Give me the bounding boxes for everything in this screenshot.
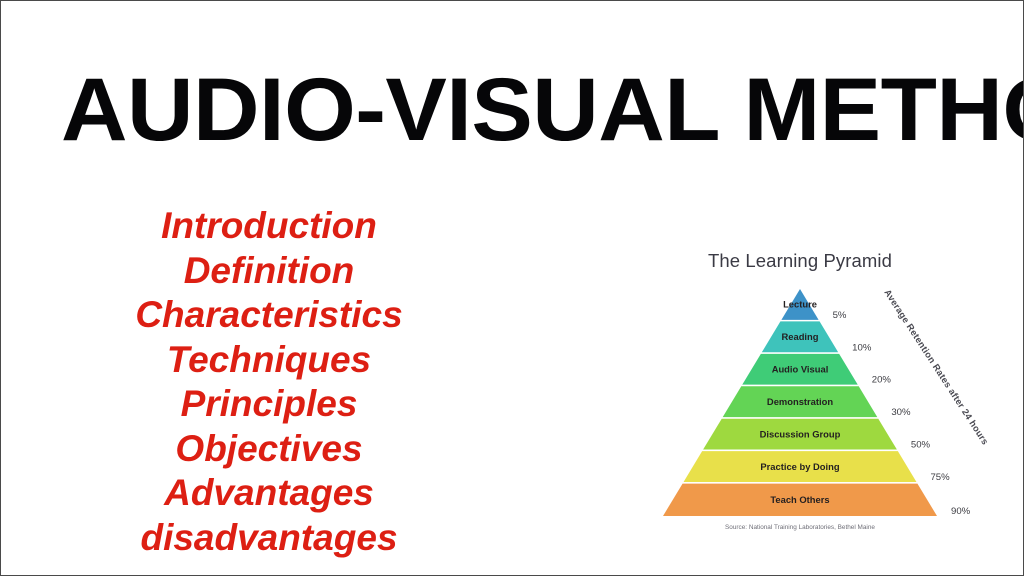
list-item: disadvantages	[109, 516, 429, 561]
retention-axis-label: Average Retention Rates after 24 hours	[882, 288, 990, 447]
pyramid-percent-label: 50%	[911, 440, 931, 451]
slide-canvas: AUDIO-VISUAL METHOD Introduction Definit…	[0, 0, 1024, 576]
pyramid-tier-label: Teach Others	[770, 494, 829, 505]
pyramid-percent-label: 90%	[951, 506, 971, 517]
list-item: Principles	[109, 382, 429, 427]
list-item: Objectives	[109, 427, 429, 472]
pyramid-tier-label: Demonstration	[767, 396, 833, 407]
pyramid-tier-label: Discussion Group	[760, 428, 841, 439]
list-item: Characteristics	[109, 293, 429, 338]
pyramid-tier-label: Lecture	[783, 299, 817, 310]
list-item: Advantages	[109, 471, 429, 516]
pyramid-percent-label: 30%	[891, 407, 911, 418]
pyramid-percent-label: 20%	[872, 375, 892, 386]
pyramid-tier-label: Practice by Doing	[760, 461, 839, 472]
learning-pyramid-figure: The Learning Pyramid LectureReadingAudio…	[652, 244, 992, 534]
topic-list: Introduction Definition Characteristics …	[109, 204, 429, 560]
pyramid-chart: LectureReadingAudio VisualDemonstrationD…	[652, 244, 992, 534]
pyramid-percent-label: 75%	[930, 472, 950, 483]
pyramid-tier-label: Audio Visual	[772, 364, 829, 375]
page-title: AUDIO-VISUAL METHOD	[61, 63, 1024, 155]
list-item: Techniques	[109, 338, 429, 383]
list-item: Introduction	[109, 204, 429, 249]
pyramid-percent-label: 10%	[852, 342, 872, 353]
pyramid-tier-label: Reading	[782, 331, 819, 342]
list-item: Definition	[109, 249, 429, 294]
pyramid-percent-label: 5%	[833, 310, 847, 321]
source-citation: Source: National Training Laboratories, …	[725, 524, 875, 531]
